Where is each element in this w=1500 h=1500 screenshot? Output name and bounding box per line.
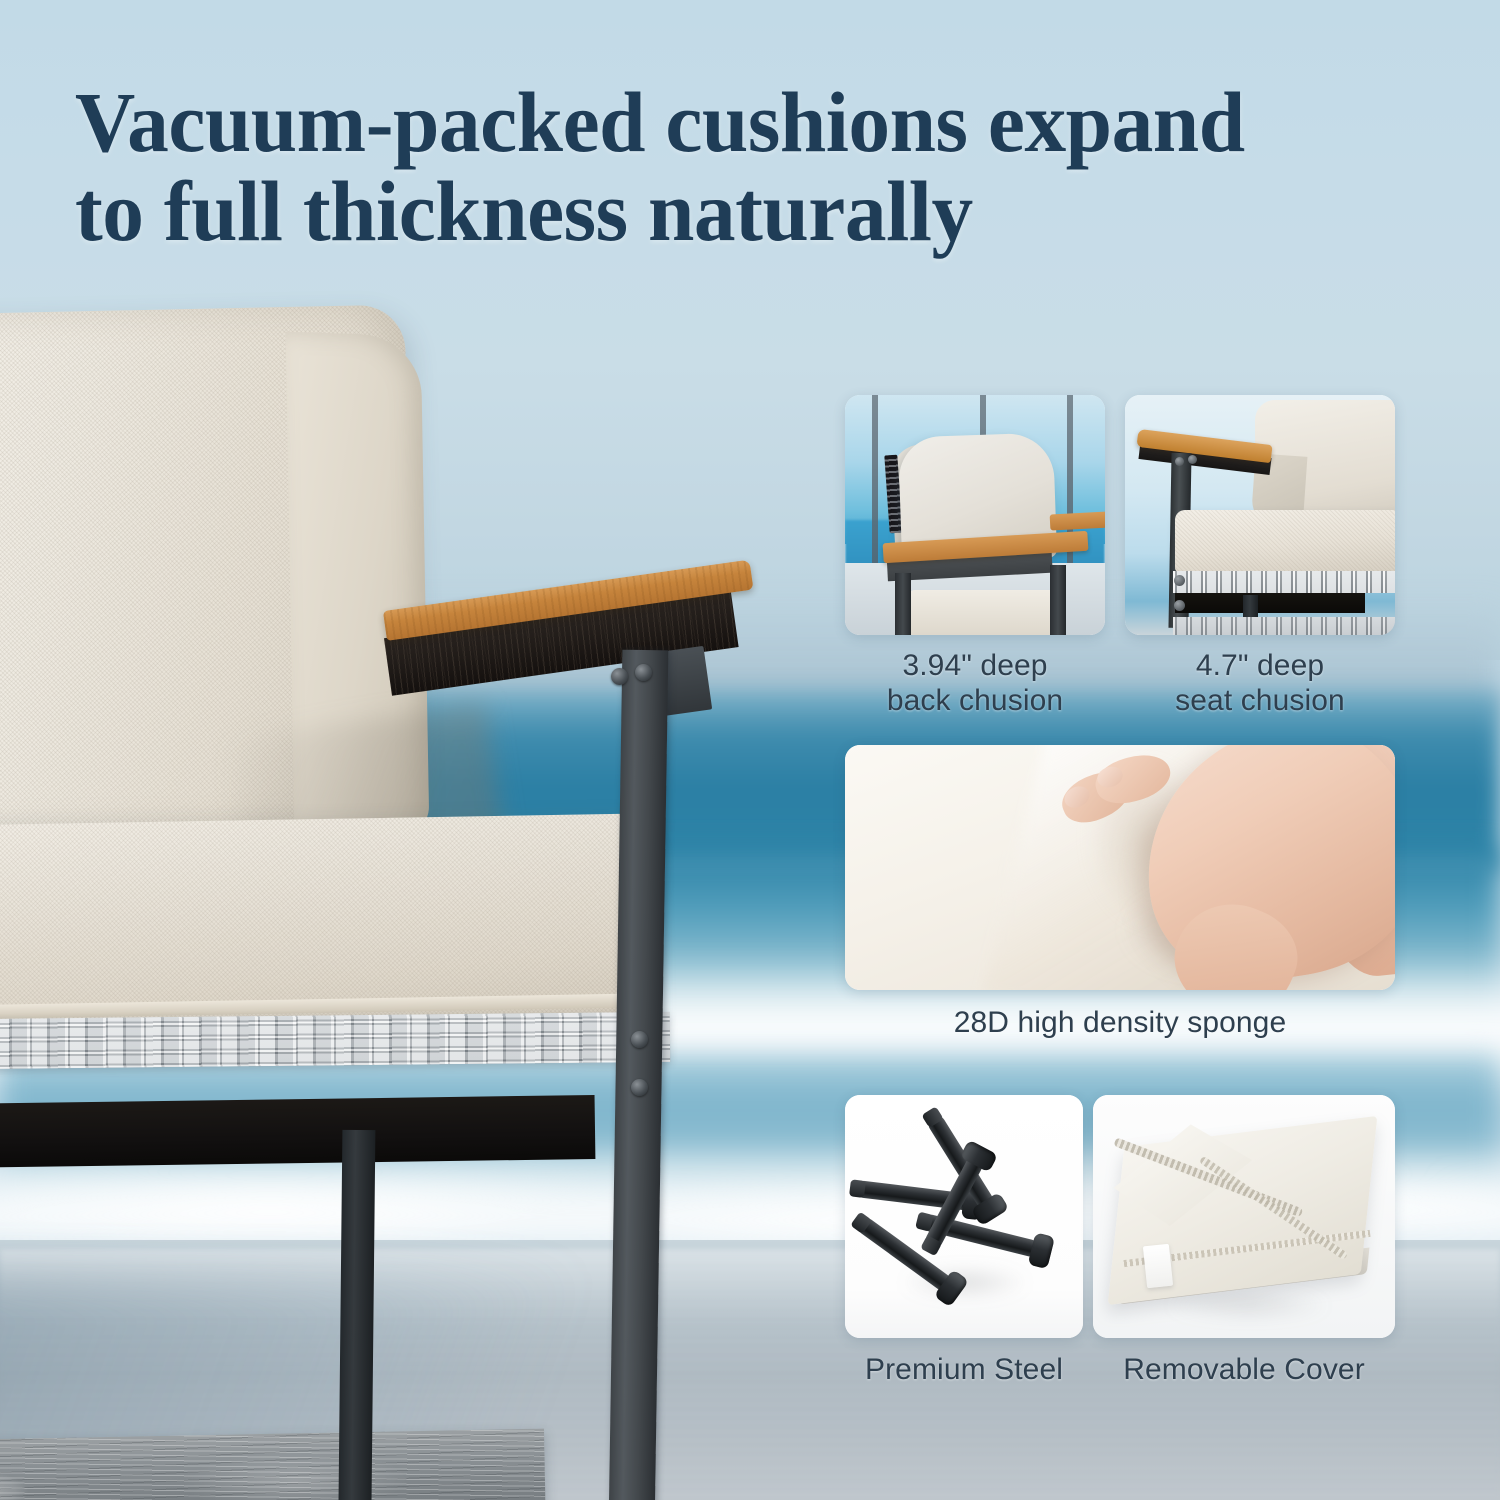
chair-bolt-icon [635, 664, 652, 681]
caption-line-2: seat chusion [1125, 683, 1395, 718]
feature-panel-sponge[interactable] [845, 745, 1395, 990]
thumb-bolt-icon [1174, 575, 1185, 586]
caption-back-cushion: 3.94" deep back chusion [845, 648, 1105, 719]
thumb-wicker-band-lower [1173, 617, 1395, 635]
caption-line-1: Premium Steel [845, 1352, 1083, 1387]
bolt-tip [849, 1179, 866, 1198]
chair-woodgrain-rail [0, 1429, 546, 1500]
chair-bolt-icon [631, 1031, 648, 1048]
feature-panel-back-cushion[interactable] [845, 395, 1105, 635]
caption-premium-steel: Premium Steel [845, 1352, 1083, 1387]
caption-line-1: 28D high density sponge [845, 1005, 1395, 1040]
thumb-teak-armrest-far [1050, 511, 1105, 530]
feature-panel-premium-steel[interactable] [845, 1095, 1083, 1338]
thumb-dark-rail [1175, 593, 1365, 613]
thumb-wicker-band [1173, 571, 1395, 593]
headline-line-2: to full thickness naturally [75, 167, 1375, 256]
chair-front-post [608, 650, 669, 1500]
chair-dark-rail [0, 1095, 595, 1169]
caption-removable-cover: Removable Cover [1093, 1352, 1395, 1387]
thumb-seat-cushion [1175, 510, 1395, 572]
caption-line-1: Removable Cover [1093, 1352, 1395, 1387]
chair-bolt-icon [611, 668, 628, 685]
chair-wicker-band [0, 1012, 670, 1070]
scene-canvas: Vacuum-packed cushions expand to full th… [0, 0, 1500, 1500]
page-title: Vacuum-packed cushions expand to full th… [75, 78, 1375, 257]
caption-line-2: back chusion [845, 683, 1105, 718]
thumb-seat-pad [907, 590, 1057, 635]
chair-middle-leg [338, 1130, 376, 1500]
thumb-window-mullion [872, 395, 878, 563]
headline-line-1: Vacuum-packed cushions expand [75, 74, 1245, 170]
caption-sponge: 28D high density sponge [845, 1005, 1395, 1040]
feature-panel-seat-cushion[interactable] [1125, 395, 1395, 635]
thumb-leg [1050, 565, 1066, 635]
caption-seat-cushion: 4.7" deep seat chusion [1125, 648, 1395, 719]
thumb-bolt-icon [1175, 457, 1184, 466]
caption-line-1: 3.94" deep [845, 648, 1105, 683]
thumb-bolt-icon [1188, 455, 1197, 464]
hero-armchair-photo [0, 300, 780, 1500]
chair-bolt-icon [631, 1079, 648, 1096]
thumb-bolt-icon [1174, 600, 1185, 611]
thumb-care-tag [1143, 1244, 1173, 1288]
feature-panel-removable-cover[interactable] [1093, 1095, 1395, 1338]
thumb-leg [895, 573, 911, 635]
caption-line-1: 4.7" deep [1125, 648, 1395, 683]
